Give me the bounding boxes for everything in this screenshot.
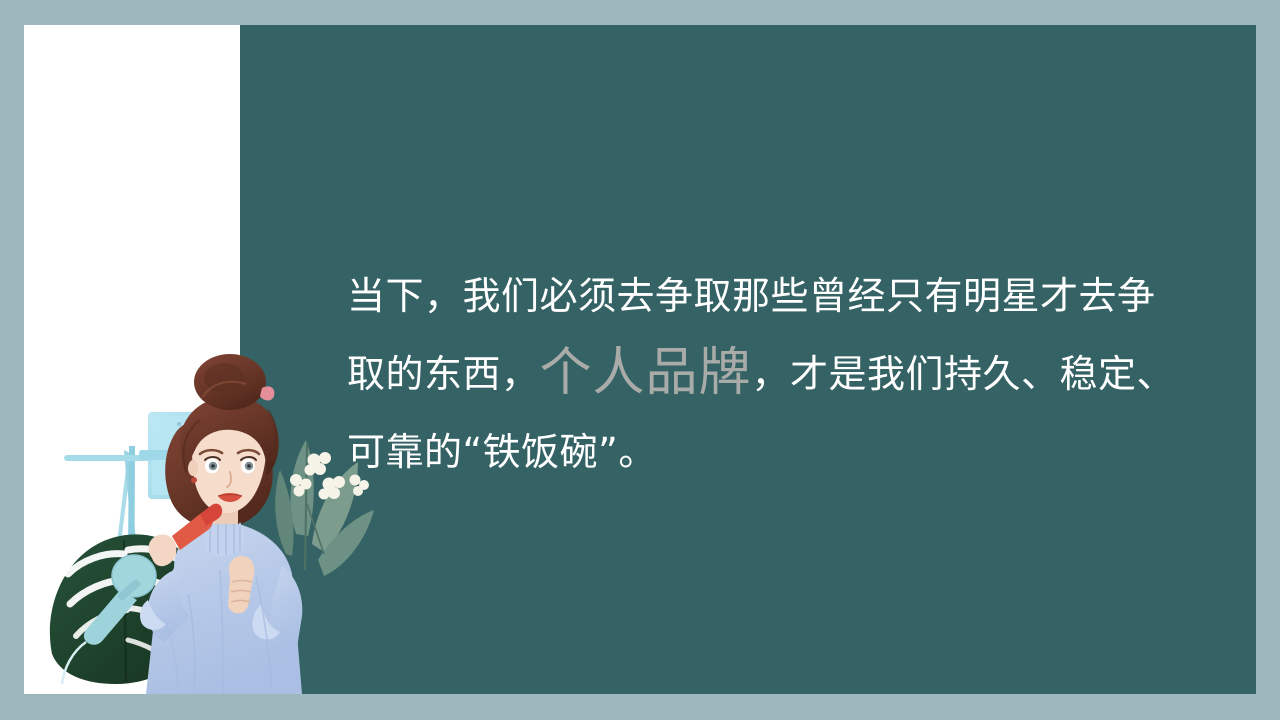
slide-root: 当下，我们必须去争取那些曾经只有明星才去争 取的东西，个人品牌，才是我们持久、稳… bbox=[0, 0, 1280, 720]
quote-line-2: 取的东西，个人品牌，才是我们持久、稳定、 bbox=[347, 335, 1177, 413]
lipstick bbox=[172, 504, 222, 550]
slide-canvas: 当下，我们必须去争取那些曾经只有明星才去争 取的东西，个人品牌，才是我们持久、稳… bbox=[24, 25, 1256, 694]
quote-line-2-prefix: 取的东西， bbox=[347, 352, 540, 396]
quote-line-2-suffix: ，才是我们持久、稳定、 bbox=[752, 352, 1176, 396]
quote-highlight-personal-brand: 个人品牌 bbox=[540, 343, 752, 403]
microphone bbox=[62, 555, 156, 684]
illustration-backdrop bbox=[24, 354, 240, 694]
quote-text-block: 当下，我们必须去争取那些曾经只有明星才去争 取的东西，个人品牌，才是我们持久、稳… bbox=[347, 257, 1177, 491]
monstera-leaf bbox=[50, 534, 204, 684]
quote-line-3: 可靠的“铁饭碗”。 bbox=[347, 413, 1177, 491]
phone-tripod-group bbox=[64, 412, 219, 654]
quote-line-1: 当下，我们必须去争取那些曾经只有明星才去争 bbox=[347, 257, 1177, 335]
